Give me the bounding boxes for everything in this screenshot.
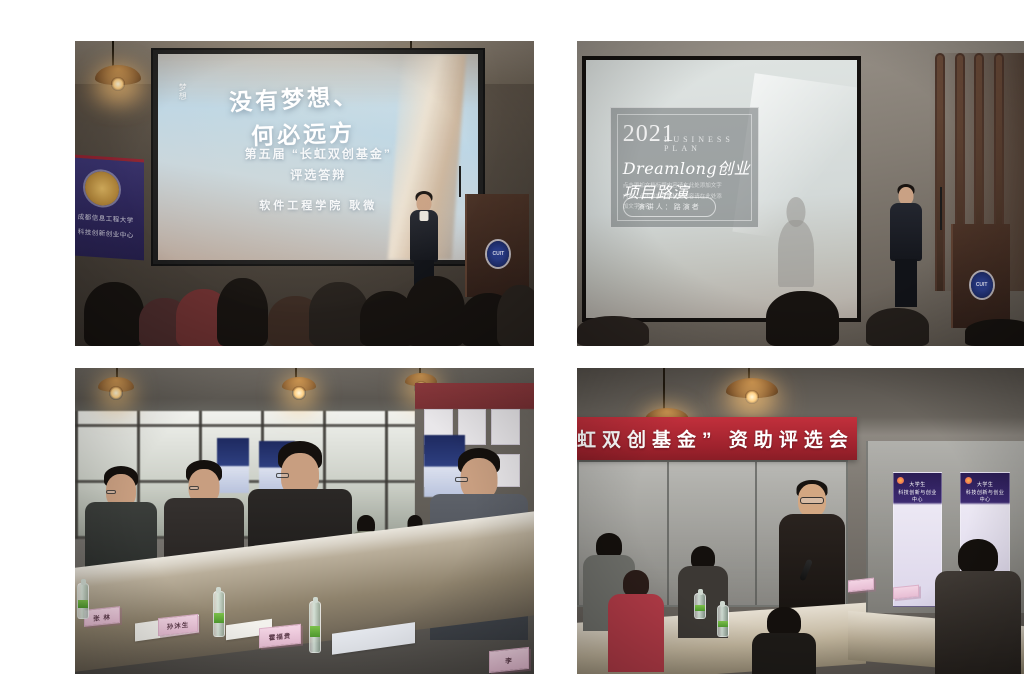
bl-name-card-text: 孙沐生 (166, 619, 189, 631)
bl-judge-glasses (189, 486, 199, 490)
br-attendee (604, 570, 667, 674)
tl-lamp-cord-left (112, 41, 114, 67)
tr-slide-card: 2021 BUSINESS PLAN Dreamlong创业项目路演 点击添加文… (610, 107, 759, 228)
bl-name-card-text: 李 (506, 655, 514, 666)
photo-top-right[interactable]: 2021 BUSINESS PLAN Dreamlong创业项目路演 点击添加文… (577, 41, 1024, 346)
br-attendee-head (623, 570, 649, 597)
tr-slide-eyebrow: BUSINESS PLAN (664, 135, 758, 153)
tr-projected-shadow (778, 220, 813, 287)
bl-notice-sheet (491, 409, 520, 446)
bl-name-card: 李 (489, 647, 529, 673)
tl-audience-head (497, 285, 534, 346)
tl-audience-head (217, 278, 267, 346)
tl-subtitle-line-1: 第五届 “长虹双创基金” (158, 145, 478, 162)
br-event-banner: 虹双创基金” 资助评选会 (577, 417, 857, 460)
photo-bottom-right[interactable]: 虹双创基金” 资助评选会 大学生 科技创新与创业中心 大学生 科技创新与创业中心 (577, 368, 1024, 674)
br-scene: 虹双创基金” 资助评选会 大学生 科技创新与创业中心 大学生 科技创新与创业中心 (577, 368, 1024, 674)
photo-collage: 梦想 没有梦想、 何必远方 第五届 “长虹双创基金” 评选答辩 软件工程学院 耿… (0, 0, 1024, 682)
bl-pendant-lamp-mid (282, 377, 316, 391)
bl-name-card-text: 霍福贵 (268, 630, 291, 642)
tl-flag-emblem (85, 170, 119, 206)
br-banner-text: 虹双创基金” 资助评选会 (577, 425, 854, 452)
br-poster-right-line-1: 大学生 (977, 482, 994, 488)
br-glass-mullion (755, 462, 757, 605)
tr-scene: 2021 BUSINESS PLAN Dreamlong创业项目路演 点击添加文… (577, 41, 1024, 346)
tl-presenter-line: 软件工程学院 耿微 (158, 197, 478, 213)
tr-audience-head (577, 316, 649, 347)
br-poster-right-text: 大学生 科技创新与创业中心 (964, 482, 1006, 505)
br-lamp-cord (663, 368, 665, 410)
br-attendee (929, 539, 1024, 674)
br-poster-left-text: 大学生 科技创新与创业中心 (897, 482, 939, 505)
tr-slide: 2021 BUSINESS PLAN Dreamlong创业项目路演 点击添加文… (586, 60, 858, 317)
photo-bottom-left[interactable]: 文 艳 (75, 368, 534, 674)
br-attendee-head (958, 539, 998, 575)
br-name-card (893, 584, 919, 599)
tl-slide-calligraphy: 没有梦想、 何必远方 (229, 79, 402, 149)
tr-audience-head (866, 308, 929, 346)
bl-pendant-lamp-left (98, 377, 134, 392)
br-attendee-body (608, 594, 664, 672)
br-poster-right-line-2: 科技创新与创业中心 (966, 490, 1005, 504)
br-attendee (748, 607, 820, 674)
tr-audience (577, 285, 1024, 346)
tl-slide-vertical-text: 梦想 (177, 83, 187, 101)
bl-scene: 文 艳 (75, 368, 534, 674)
tl-scene: 梦想 没有梦想、 何必远方 第五届 “长虹双创基金” 评选答辩 软件工程学院 耿… (75, 41, 534, 346)
photo-top-left[interactable]: 梦想 没有梦想、 何必远方 第五届 “长虹双创基金” 评选答辩 软件工程学院 耿… (75, 41, 534, 346)
tr-mic-stand (940, 187, 942, 230)
bl-judge-glasses (276, 473, 289, 478)
br-attendee-body (935, 571, 1021, 674)
tl-flag-line-1: 成都信息工程大学 (78, 210, 134, 224)
br-poster-left-line-2: 科技创新与创业中心 (898, 490, 937, 504)
bl-water-bottle (309, 601, 321, 653)
br-poster-left-line-1: 大学生 (909, 482, 926, 488)
br-pendant-lamp-2 (726, 378, 778, 398)
tr-projection-screen: 2021 BUSINESS PLAN Dreamlong创业项目路演 点击添加文… (582, 56, 862, 321)
tl-audience (75, 236, 534, 346)
tl-audience-head (84, 282, 144, 346)
tl-slide-subtitle-block: 第五届 “长虹双创基金” 评选答辩 软件工程学院 耿微 (158, 145, 478, 213)
tr-presenter-body (890, 203, 922, 261)
bl-judge-glasses (106, 490, 116, 494)
tl-calligraphy-line-1: 没有梦想、 (228, 74, 403, 117)
bl-judge-glasses (455, 477, 468, 482)
br-speaker-glasses (800, 497, 824, 504)
br-glass-mullion (667, 462, 669, 605)
bl-water-bottle (213, 591, 225, 637)
tr-arch (935, 53, 945, 291)
tl-subtitle-line-2: 评选答辩 (158, 166, 478, 183)
bl-name-card-text: 张 林 (93, 611, 111, 623)
br-water-bottle (717, 605, 729, 637)
tl-pendant-lamp-left (95, 65, 141, 85)
tl-audience-head (405, 276, 465, 346)
tr-audience-head (766, 291, 838, 346)
tr-slide-presenter-pill: 演讲人：路演者 (623, 197, 716, 217)
br-attendee-body (752, 633, 816, 674)
tr-audience-head (965, 319, 1024, 346)
br-water-bottle (694, 593, 706, 619)
bl-water-bottle (77, 583, 89, 619)
